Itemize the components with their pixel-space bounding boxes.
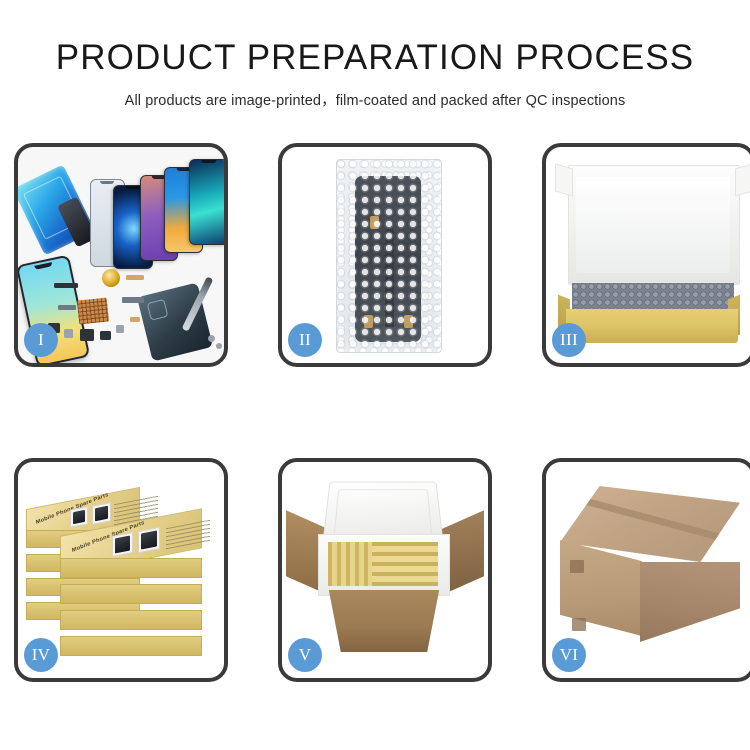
step-badge-5: V [288, 638, 322, 672]
stacked-box [60, 636, 200, 656]
process-step-5: V [278, 458, 492, 682]
stacked-box [60, 610, 200, 630]
process-step-4: Mobile Phone Spare Parts Mobile Phone Sp… [14, 458, 228, 682]
page-subtitle: All products are image-printed，film-coat… [0, 75, 750, 110]
small-part [64, 329, 73, 338]
screw-part [216, 343, 222, 349]
box-side [60, 610, 202, 630]
small-part [80, 329, 94, 341]
box-side [60, 584, 202, 604]
process-step-1: I [14, 143, 228, 367]
product-thumbnail [141, 530, 157, 549]
bubble-wrap-bag [336, 159, 442, 353]
copper-mesh-component [77, 297, 109, 324]
packed-yellow-boxes [328, 542, 438, 586]
coil-component [102, 269, 120, 287]
step-badge-3: III [552, 323, 586, 357]
box-side [60, 558, 202, 578]
wrapped-phone-part [355, 176, 421, 342]
process-step-3: III [542, 143, 750, 367]
carton-tab [570, 560, 584, 573]
carton-right-face [640, 562, 740, 642]
box-side [60, 636, 202, 656]
notch-icon [201, 160, 216, 163]
foam-sheet [576, 177, 730, 273]
notch-icon [125, 186, 140, 189]
process-step-6: VI [542, 458, 750, 682]
carton-front-wall [324, 590, 444, 652]
stacked-box [60, 584, 200, 604]
carton-tab [572, 618, 586, 631]
process-step-grid: I II [14, 143, 736, 682]
small-part [54, 283, 78, 288]
product-window [138, 527, 160, 553]
step-badge-4: IV [24, 638, 58, 672]
product-window [112, 532, 133, 557]
header: PRODUCT PREPARATION PROCESS All products… [0, 0, 750, 110]
adhesive-tab [364, 315, 373, 328]
step-badge-1: I [24, 323, 58, 357]
flex-cable-part [385, 229, 394, 327]
small-part [126, 275, 144, 280]
page-title: PRODUCT PREPARATION PROCESS [0, 0, 750, 75]
small-part [100, 331, 111, 340]
flex-cable-part [122, 297, 144, 303]
screw-part [208, 335, 215, 342]
small-part [116, 325, 124, 333]
step-badge-2: II [288, 323, 322, 357]
phone-display-d [189, 159, 224, 245]
adhesive-tab [370, 216, 379, 229]
flex-cable-part [58, 305, 76, 310]
adhesive-tab [404, 315, 413, 328]
process-step-2: II [278, 143, 492, 367]
bubble-wrapped-contents [572, 283, 734, 311]
product-preparation-infographic: PRODUCT PREPARATION PROCESS All products… [0, 0, 750, 750]
product-thumbnail [115, 536, 130, 554]
stacked-box [60, 558, 200, 578]
product-thumbnail [95, 506, 108, 522]
box-front-wall [566, 309, 738, 343]
stacked-box: Mobile Phone Spare Parts [60, 522, 200, 560]
step-badge-6: VI [552, 638, 586, 672]
small-part [130, 317, 140, 322]
